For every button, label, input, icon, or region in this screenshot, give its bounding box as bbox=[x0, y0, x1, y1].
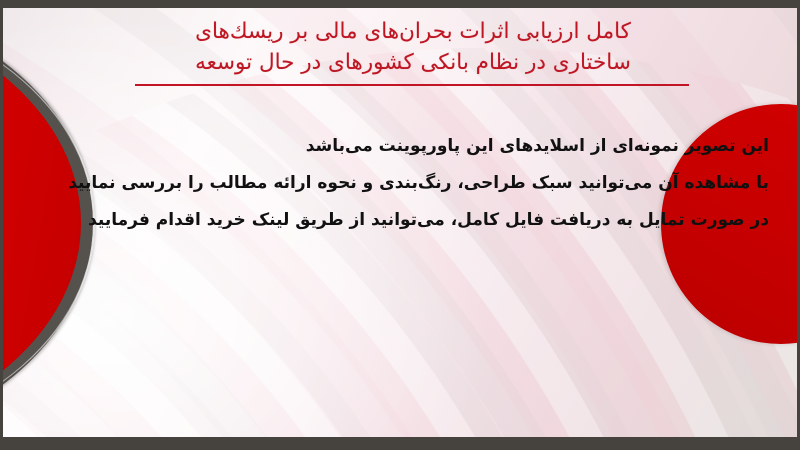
body-line-1: این تصویر نمونه‌ای از اسلایدهای این پاور… bbox=[69, 128, 769, 165]
slide-body-text: این تصویر نمونه‌ای از اسلایدهای این پاور… bbox=[69, 128, 769, 239]
title-underline-rule bbox=[135, 84, 689, 86]
presentation-slide: کامل ارزیابی اثرات بحران‌های مالی بر ریس… bbox=[0, 0, 800, 450]
body-line-2: با مشاهده آن می‌توانید سبک طراحی، رنگ‌بن… bbox=[69, 165, 769, 202]
body-line-3: در صورت تمایل به دریافت فایل کامل، می‌تو… bbox=[69, 202, 769, 239]
slide-title: کامل ارزیابی اثرات بحران‌های مالی بر ریس… bbox=[63, 16, 763, 78]
slide-title-line-2: ساختاری در نظام بانکی کشورهای در حال توس… bbox=[63, 47, 763, 78]
slide-title-line-1: کامل ارزیابی اثرات بحران‌های مالی بر ریس… bbox=[63, 16, 763, 47]
slide-canvas: کامل ارزیابی اثرات بحران‌های مالی بر ریس… bbox=[3, 8, 797, 437]
